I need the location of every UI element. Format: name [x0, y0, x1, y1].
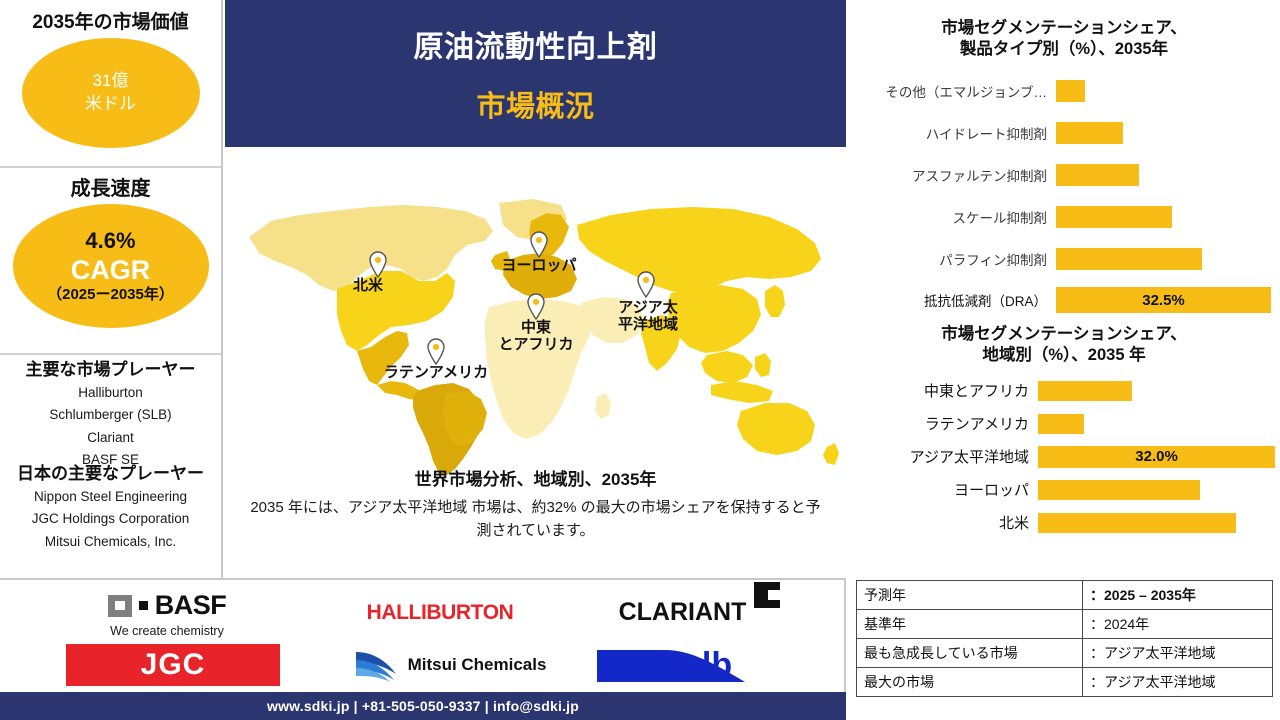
left-sidebar: 2035年の市場価値 31億 米ドル 成長速度 4.6% CAGR （2025ー…	[0, 0, 223, 578]
list-item: Nippon Steel Engineering	[0, 486, 221, 509]
basf-dot-icon	[139, 601, 148, 610]
chart1-bars: その他（エマルジョンブ… ハイドレート抑制剤 アスファルテン抑制剤	[848, 70, 1280, 320]
bar-label: その他（エマルジョンブ…	[848, 81, 1056, 101]
cagr-value: 4.6%	[85, 228, 135, 254]
basf-wordmark: BASF	[155, 590, 227, 621]
growth-section: 成長速度 4.6% CAGR （2025ー2035年）	[0, 168, 221, 355]
bar-track	[1038, 414, 1280, 434]
table-row: 最も急成長している市場 ：アジア太平洋地域	[857, 639, 1273, 668]
bar-fill	[1056, 164, 1139, 186]
list-item: Halliburton	[0, 382, 221, 405]
footer-contact-text: www.sdki.jp | +81-505-050-9337 | info@sd…	[267, 698, 579, 714]
bar-track	[1038, 513, 1280, 533]
bar-row: その他（エマルジョンブ…	[848, 70, 1280, 112]
infographic-page: 2035年の市場価値 31億 米ドル 成長速度 4.6% CAGR （2025ー…	[0, 0, 1280, 720]
chart1-title-line2: 製品タイプ別（%）、2035年	[848, 39, 1280, 60]
market-info-table: 予測年 ：2025 – 2035年 基準年 ：2024年 最も急成長している市場…	[856, 580, 1273, 697]
map-pin-icon	[368, 251, 388, 278]
logo-clariant: CLARIANT	[585, 594, 780, 630]
bar-row: アスファルテン抑制剤	[848, 154, 1280, 196]
page-title: 原油流動性向上剤	[414, 22, 658, 66]
market-value-heading: 2035年の市場価値	[0, 0, 221, 34]
bar-track	[1038, 480, 1280, 500]
map-label-asia-pacific: アジア太 平洋地域	[593, 299, 703, 334]
map-label-line1: 中東	[471, 319, 601, 336]
map-label-middle-east-africa: 中東 とアフリカ	[471, 319, 601, 354]
bar-fill: 32.0%	[1038, 446, 1275, 468]
logo-halliburton: HALLIBURTON	[345, 598, 535, 628]
basf-logo-row: BASF	[108, 590, 227, 621]
bar-fill: 32.5%	[1056, 287, 1271, 313]
japan-players-list: Nippon Steel Engineering JGC Holdings Co…	[0, 486, 221, 554]
table-cell-key: 予測年	[857, 581, 1083, 610]
table-cell-key: 基準年	[857, 610, 1083, 639]
bar-row: アジア太平洋地域 32.0%	[848, 440, 1280, 473]
growth-heading: 成長速度	[0, 168, 221, 201]
table-cell-value: ：2025 – 2035年	[1083, 581, 1273, 610]
bar-track	[1056, 164, 1280, 186]
table-row: 基準年 ：2024年	[857, 610, 1273, 639]
clariant-wordmark: CLARIANT	[619, 598, 747, 627]
bar-row: パラフィン抑制剤	[848, 238, 1280, 280]
key-players-list: Halliburton Schlumberger (SLB) Clariant …	[0, 382, 221, 472]
market-value-bubble-wrap: 31億 米ドル	[0, 34, 221, 148]
chart2-title-line1: 市場セグメンテーションシェア、	[848, 324, 1280, 345]
bar-row: 中東とアフリカ	[848, 374, 1280, 407]
bar-fill	[1056, 122, 1123, 144]
map-pin-icon	[529, 231, 549, 258]
bar-track	[1056, 80, 1280, 102]
chart2-title: 市場セグメンテーションシェア、 地域別（%）、2035 年	[848, 320, 1280, 366]
bar-fill	[1038, 381, 1132, 401]
page-subtitle: 市場概況	[476, 83, 594, 125]
bar-label: ハイドレート抑制剤	[848, 123, 1056, 143]
map-region-russia	[577, 207, 821, 293]
japan-players-heading: 日本の主要なプレーヤー	[0, 460, 221, 486]
bar-label: パラフィン抑制剤	[848, 249, 1056, 269]
japan-players-section: 日本の主要なプレーヤー Nippon Steel Engineering JGC…	[0, 460, 221, 553]
bar-track	[1056, 248, 1280, 270]
svg-text:slb: slb	[683, 646, 732, 684]
bar-value: 32.5%	[1142, 292, 1185, 309]
bar-label: アジア太平洋地域	[848, 446, 1038, 467]
map-region-australia	[737, 403, 815, 455]
map-label-line2: 平洋地域	[593, 316, 703, 333]
footer-bar: www.sdki.jp | +81-505-050-9337 | info@sd…	[0, 692, 846, 720]
bar-fill	[1056, 248, 1202, 270]
key-players-heading: 主要な市場プレーヤー	[0, 355, 221, 382]
bar-track: 32.5%	[1056, 287, 1280, 313]
map-pin-icon	[636, 271, 656, 298]
bar-track	[1038, 381, 1280, 401]
company-logos-section: BASF We create chemistry HALLIBURTON CLA…	[0, 578, 846, 692]
table-cell-key: 最も急成長している市場	[857, 639, 1083, 668]
bar-row: 北米	[848, 506, 1280, 539]
map-region-se-asia	[701, 351, 753, 383]
table-row: 予測年 ：2025 – 2035年	[857, 581, 1273, 610]
jgc-wordmark: JGC	[141, 648, 206, 682]
map-region-indonesia	[711, 381, 773, 403]
world-map-section: 北米 ヨーロッパ 中東 とアフリカ アジア太 平洋地域	[225, 147, 846, 578]
bar-row: スケール抑制剤	[848, 196, 1280, 238]
bar-track	[1056, 206, 1280, 228]
map-region-madagascar	[595, 393, 611, 419]
bar-row: ヨーロッパ	[848, 473, 1280, 506]
logo-jgc: JGC	[66, 644, 280, 686]
map-description: 2035 年には、アジア太平洋地域 市場は、約32% の最大の市場シェアを保持す…	[243, 497, 828, 542]
clariant-mark-icon	[754, 582, 780, 608]
table-cell-value: ：アジア太平洋地域	[1083, 668, 1273, 697]
slb-logo-graphic: slb	[595, 642, 775, 688]
basf-square-icon	[108, 595, 132, 617]
bar-label: アスファルテン抑制剤	[848, 165, 1056, 185]
chart2-bars: 中東とアフリカ ラテンアメリカ アジア太平洋地域	[848, 374, 1280, 539]
list-item: Schlumberger (SLB)	[0, 404, 221, 427]
table-cell-value: ：2024年	[1083, 610, 1273, 639]
map-pin-icon	[426, 338, 446, 365]
chart1-title-line1: 市場セグメンテーションシェア、	[848, 18, 1280, 39]
map-pin-icon	[526, 293, 546, 320]
bar-label: ヨーロッパ	[848, 479, 1038, 500]
market-value-bubble: 31億 米ドル	[22, 38, 200, 148]
map-region-philippines	[755, 353, 771, 377]
map-label-europe: ヨーロッパ	[484, 257, 594, 274]
logo-mitsui-chemicals: Mitsui Chemicals	[345, 644, 555, 686]
bar-fill	[1038, 513, 1236, 533]
key-players-section: 主要な市場プレーヤー Halliburton Schlumberger (SLB…	[0, 355, 221, 460]
halliburton-wordmark: HALLIBURTON	[367, 601, 514, 625]
bar-value: 32.0%	[1135, 448, 1178, 465]
mitsui-wave-icon	[354, 648, 400, 682]
list-item: Clariant	[0, 427, 221, 450]
market-value-section: 2035年の市場価値 31億 米ドル	[0, 0, 221, 168]
map-region-japan	[765, 285, 785, 317]
bar-label: スケール抑制剤	[848, 207, 1056, 227]
map-label-latin-america: ラテンアメリカ	[361, 364, 511, 381]
bar-label: 抵抗低減剤（DRA）	[848, 290, 1056, 310]
bar-fill	[1056, 206, 1172, 228]
bar-label: ラテンアメリカ	[848, 413, 1038, 434]
growth-bubble: 4.6% CAGR （2025ー2035年）	[13, 204, 209, 328]
bar-fill	[1038, 480, 1200, 500]
market-value-line2: 米ドル	[85, 93, 136, 116]
table-cell-value: ：アジア太平洋地域	[1083, 639, 1273, 668]
bar-fill	[1038, 414, 1084, 434]
market-value-line1: 31億	[93, 70, 129, 93]
bar-label: 北米	[848, 512, 1038, 533]
map-label-line2: とアフリカ	[471, 336, 601, 353]
bar-track: 32.0%	[1038, 446, 1280, 468]
table-row: 最大の市場 ：アジア太平洋地域	[857, 668, 1273, 697]
bar-fill	[1056, 80, 1085, 102]
mitsui-wordmark: Mitsui Chemicals	[408, 655, 547, 675]
cagr-label: CAGR	[71, 255, 151, 286]
bar-row: ラテンアメリカ	[848, 407, 1280, 440]
list-item: Mitsui Chemicals, Inc.	[0, 531, 221, 554]
bar-label: 中東とアフリカ	[848, 380, 1038, 401]
chart1-title: 市場セグメンテーションシェア、 製品タイプ別（%）、2035年	[848, 0, 1280, 60]
page-header: 原油流動性向上剤 市場概況	[225, 0, 846, 147]
cagr-period: （2025ー2035年）	[47, 286, 174, 304]
bar-track	[1056, 122, 1280, 144]
list-item: JGC Holdings Corporation	[0, 508, 221, 531]
bar-row: ハイドレート抑制剤	[848, 112, 1280, 154]
map-caption: 世界市場分析、地域別、2035年	[225, 465, 846, 490]
logo-slb: slb	[595, 642, 775, 688]
table-cell-key: 最大の市場	[857, 668, 1083, 697]
map-label-line1: アジア太	[593, 299, 703, 316]
map-label-north-america: 北米	[338, 277, 398, 294]
basf-tagline: We create chemistry	[110, 624, 224, 638]
chart2-title-line2: 地域別（%）、2035 年	[848, 345, 1280, 366]
map-region-new-zealand	[823, 443, 839, 465]
growth-bubble-wrap: 4.6% CAGR （2025ー2035年）	[0, 201, 221, 328]
logo-basf: BASF We create chemistry	[62, 590, 272, 638]
bar-row: 抵抗低減剤（DRA） 32.5%	[848, 280, 1280, 320]
